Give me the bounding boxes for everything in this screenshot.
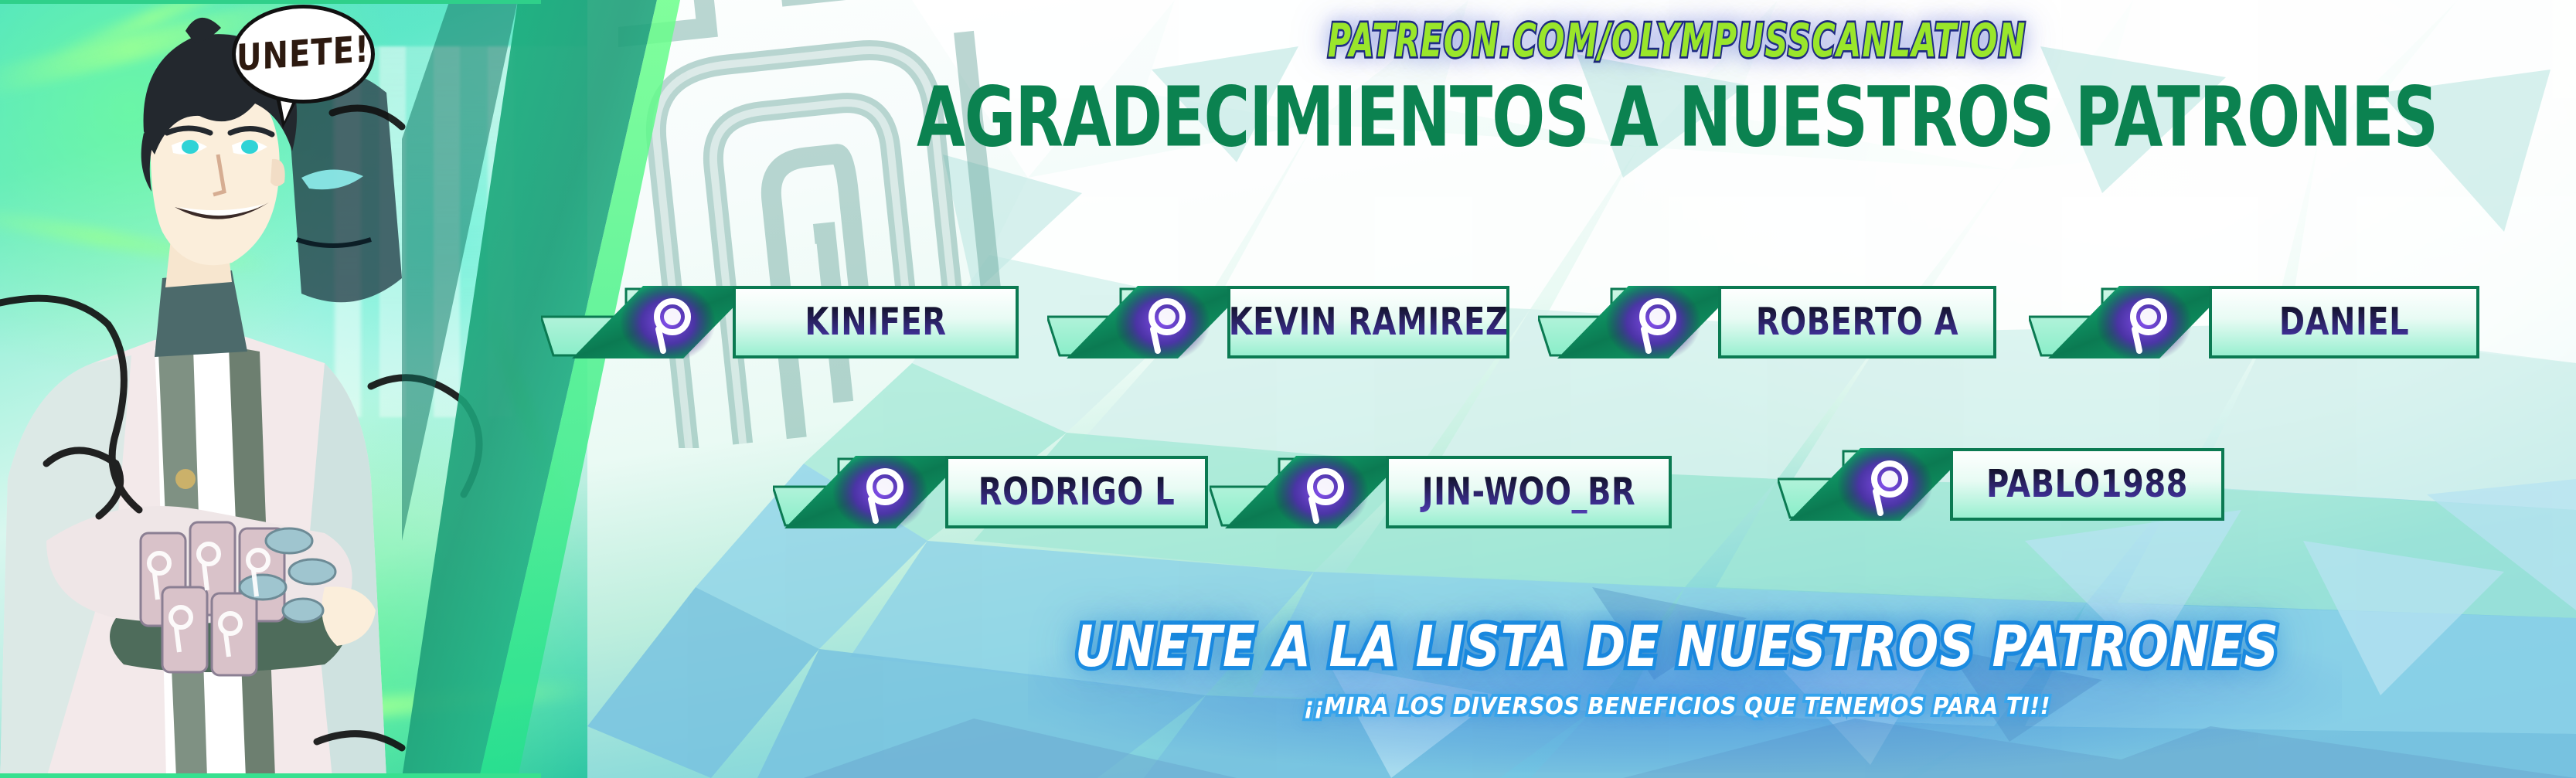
patron-badge[interactable]: JIN-WOO_BR [1210, 456, 1673, 528]
cta-sub-text: ¡¡MIRA LOS DIVERSOS BENEFICIOS QUE TENEM… [1304, 692, 2050, 720]
call-to-action-block: UNETE A LA LISTA DE NUESTROS PATRONES ¡¡… [835, 618, 2520, 719]
patron-badge[interactable]: PABLO1988 [1778, 448, 2226, 521]
cta-main-row: UNETE A LA LISTA DE NUESTROS PATRONES [835, 618, 2520, 674]
cta-main-text[interactable]: UNETE A LA LISTA DE NUESTROS PATRONES [1075, 613, 2279, 679]
patreon-thanks-banner: UNETE! PATRE [0, 0, 2576, 778]
patron-badge[interactable]: RODRIGO L [773, 456, 1210, 528]
patron-badge[interactable]: KINIFER [541, 286, 1020, 358]
patron-badge[interactable]: ROBERTO A [1538, 286, 1998, 358]
patron-badge[interactable]: KEVIN RAMIREZ [1047, 286, 1511, 358]
patron-badge[interactable]: DANIEL [2029, 286, 2481, 358]
cta-sub-row: ¡¡MIRA LOS DIVERSOS BENEFICIOS QUE TENEM… [835, 674, 2520, 719]
